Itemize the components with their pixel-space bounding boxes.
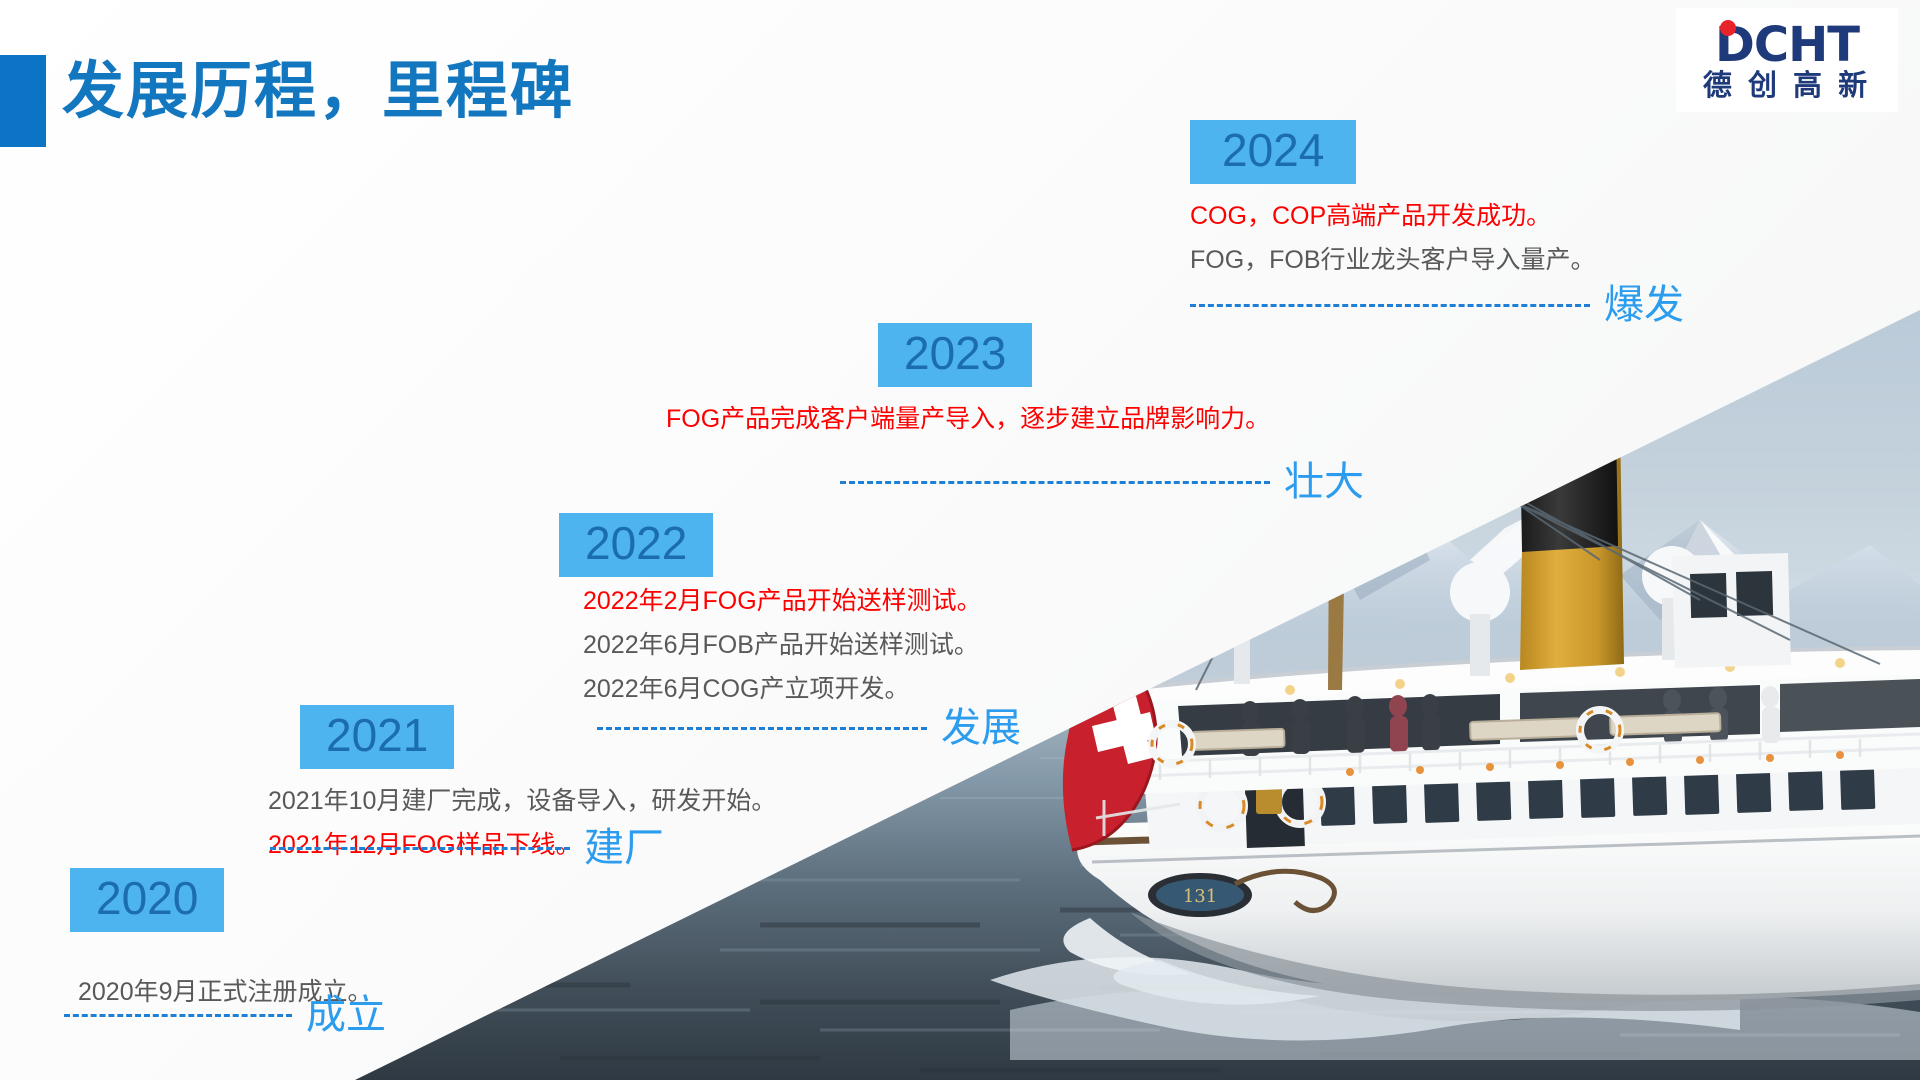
title-accent-bar bbox=[0, 55, 46, 147]
entry-line: 2022年6月FOB产品开始送样测试。 bbox=[583, 623, 1021, 667]
dashed-connector bbox=[840, 481, 1270, 484]
logo-mark: DCHT bbox=[1715, 18, 1859, 68]
year-badge: 2022 bbox=[559, 513, 713, 577]
timeline-entry-2020: 2020 2020年9月正式注册成立。 成立 bbox=[70, 868, 386, 1038]
stage-rule-row: 爆发 bbox=[1190, 282, 1684, 328]
company-logo: DCHT 德 创 高 新 bbox=[1676, 8, 1898, 112]
stage-label: 爆发 bbox=[1604, 282, 1684, 328]
entry-line: COG，COP高端产品开发成功。 bbox=[1190, 194, 1684, 238]
entry-lines: COG，COP高端产品开发成功。 FOG，FOB行业龙头客户导入量产。 bbox=[1190, 194, 1684, 282]
entry-line: FOG产品完成客户端量产导入，逐步建立品牌影响力。 bbox=[666, 397, 1364, 441]
dashed-connector bbox=[64, 1014, 292, 1017]
stage-rule-row: 壮大 bbox=[840, 459, 1364, 505]
page-title: 发展历程，里程碑 bbox=[62, 40, 574, 130]
dashed-connector bbox=[1190, 304, 1590, 307]
stage-label: 壮大 bbox=[1284, 459, 1364, 505]
dashed-connector bbox=[270, 847, 570, 850]
entry-line: FOG，FOB行业龙头客户导入量产。 bbox=[1190, 238, 1684, 282]
logo-wordmark: DCHT bbox=[1715, 22, 1859, 68]
timeline-entry-2024: 2024 COG，COP高端产品开发成功。 FOG，FOB行业龙头客户导入量产。… bbox=[1190, 120, 1684, 328]
timeline-entry-2021: 2021 2021年10月建厂完成，设备导入，研发开始。 2021年12月FOG… bbox=[300, 705, 776, 871]
entry-line: 2022年2月FOG产品开始送样测试。 bbox=[583, 579, 1021, 623]
year-badge: 2021 bbox=[300, 705, 454, 769]
stage-label: 发展 bbox=[941, 705, 1021, 751]
stage-label: 建厂 bbox=[584, 825, 664, 871]
entry-lines: FOG产品完成客户端量产导入，逐步建立品牌影响力。 bbox=[666, 397, 1364, 441]
entry-line: 2021年10月建厂完成，设备导入，研发开始。 bbox=[268, 779, 776, 823]
stage-label: 成立 bbox=[306, 992, 386, 1038]
year-badge: 2023 bbox=[878, 323, 1032, 387]
entry-lines: 2022年2月FOG产品开始送样测试。 2022年6月FOB产品开始送样测试。 … bbox=[583, 579, 1021, 711]
logo-red-dot-icon bbox=[1720, 20, 1736, 36]
logo-subtitle: 德 创 高 新 bbox=[1703, 70, 1871, 102]
svg-text:131: 131 bbox=[1183, 886, 1217, 907]
timeline-entry-2023: 2023 FOG产品完成客户端量产导入，逐步建立品牌影响力。 壮大 bbox=[878, 323, 1364, 505]
year-badge: 2024 bbox=[1190, 120, 1356, 184]
year-badge: 2020 bbox=[70, 868, 224, 932]
